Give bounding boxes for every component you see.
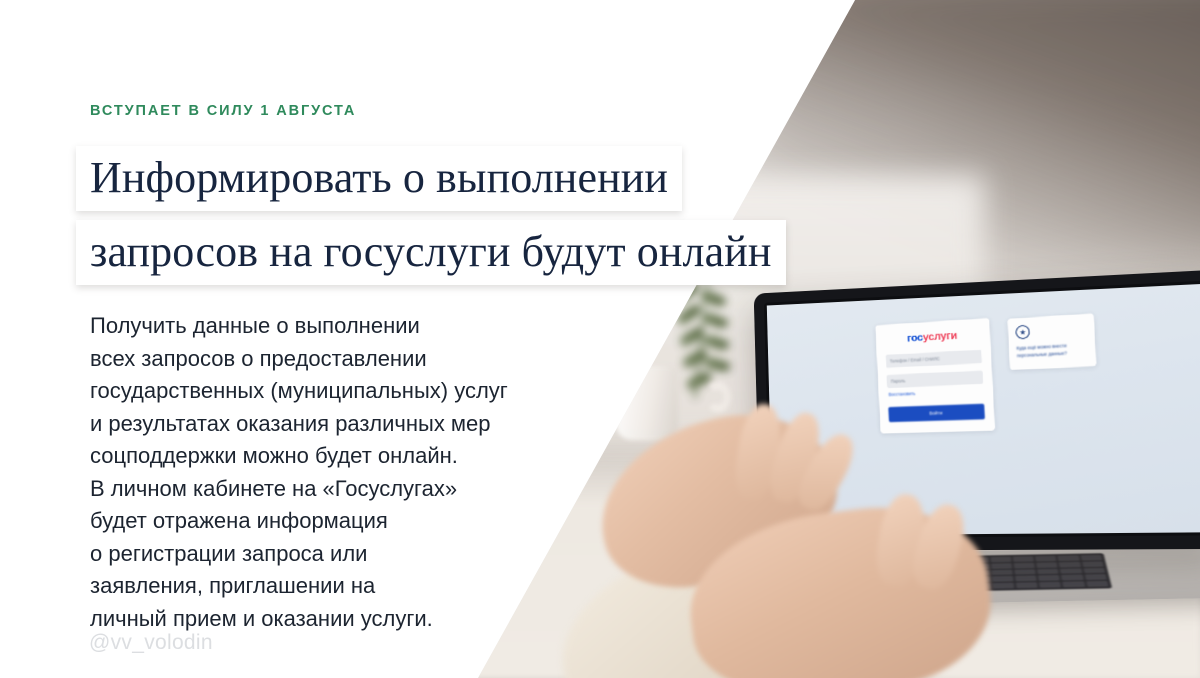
body-line: всех запросов о предоставлении [90,343,508,376]
kicker-label: ВСТУПАЕТ В СИЛУ 1 АВГУСТА [90,103,356,119]
mug-handle [705,382,731,412]
body-line: заявления, приглашении на [90,570,508,603]
login-card: госуслуги Телефон / Email / СНИЛС Пароль… [875,318,995,434]
author-handle: @vv_volodin [89,631,213,655]
body-text: Получить данные о выполнении всех запрос… [90,310,508,635]
login-input[interactable]: Телефон / Email / СНИЛС [886,350,982,368]
body-line: и результатах оказания различных мер [90,408,508,441]
emblem-icon: ★ [1015,325,1030,340]
plant-leaf [701,310,729,331]
submit-login-button[interactable]: Войти [888,404,985,423]
body-line: будет отражена информация [90,505,508,538]
body-line: В личном кабинете на «Госуслугах» [90,473,508,506]
logo-text-gos: гос [907,331,923,344]
login-input-placeholder: Телефон / Email / СНИЛС [890,356,940,364]
body-line: Получить данные о выполнении [90,310,508,343]
password-input[interactable]: Пароль [887,370,983,388]
infographic-canvas: госуслуги Телефон / Email / СНИЛС Пароль… [0,0,1200,678]
info-side-card[interactable]: ★ Куда ещё можно внести персональные дан… [1007,313,1096,369]
headline-line-1: Информировать о выполнении [76,146,682,211]
body-line: соцподдержки можно будет онлайн. [90,440,508,473]
password-input-placeholder: Пароль [891,378,906,384]
page-title: Информировать о выполнении запросов на г… [76,146,786,285]
logo-text-uslugi: услуги [923,329,958,343]
restore-password-link[interactable]: Восстановить [888,388,983,397]
plant-leaf [702,333,730,353]
headline-line-2: запросов на госуслуги будут онлайн [76,220,786,285]
body-line: о регистрации запроса или [90,538,508,571]
gosuslugi-logo: госуслуги [885,328,981,346]
body-line: государственных (муниципальных) услуг [90,375,508,408]
